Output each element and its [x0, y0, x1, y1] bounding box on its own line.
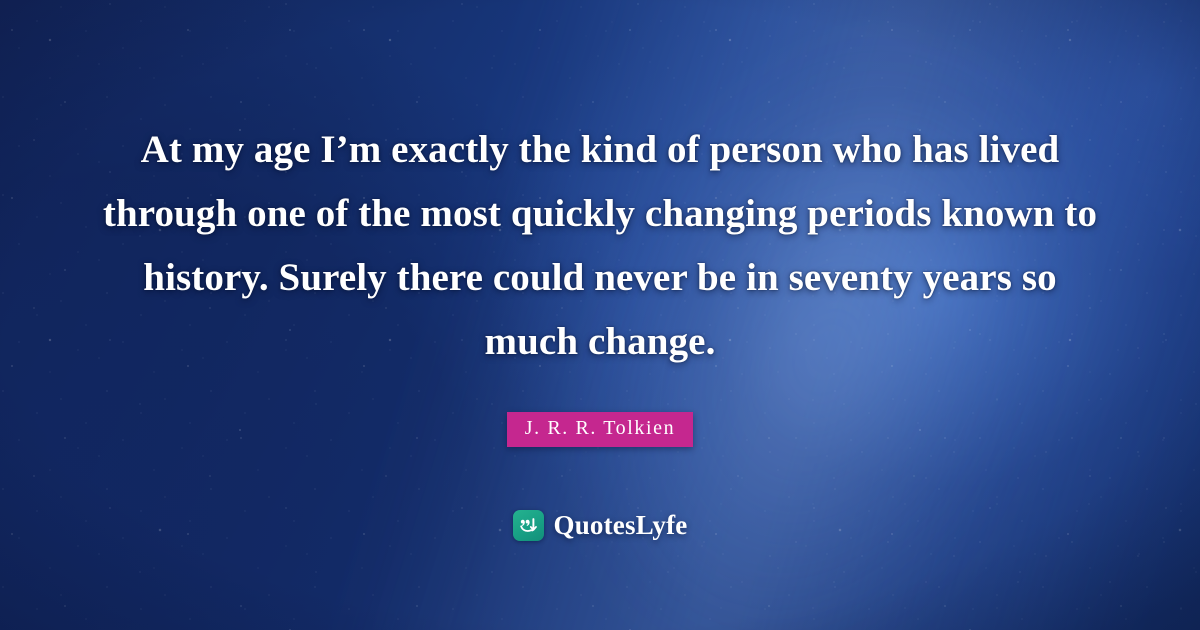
quote-text: At my age I’m exactly the kind of person… [100, 118, 1100, 374]
author-badge[interactable]: J. R. R. Tolkien [507, 412, 694, 447]
author-attribution: J. R. R. Tolkien [507, 412, 694, 447]
card-content: At my age I’m exactly the kind of person… [0, 0, 1200, 630]
brand-logo[interactable]: QuotesLyfe [513, 510, 688, 541]
brand-name: QuotesLyfe [554, 510, 688, 541]
quote-block: At my age I’m exactly the kind of person… [100, 118, 1100, 374]
quote-card: At my age I’m exactly the kind of person… [0, 0, 1200, 630]
quote-smiley-icon [513, 510, 544, 541]
